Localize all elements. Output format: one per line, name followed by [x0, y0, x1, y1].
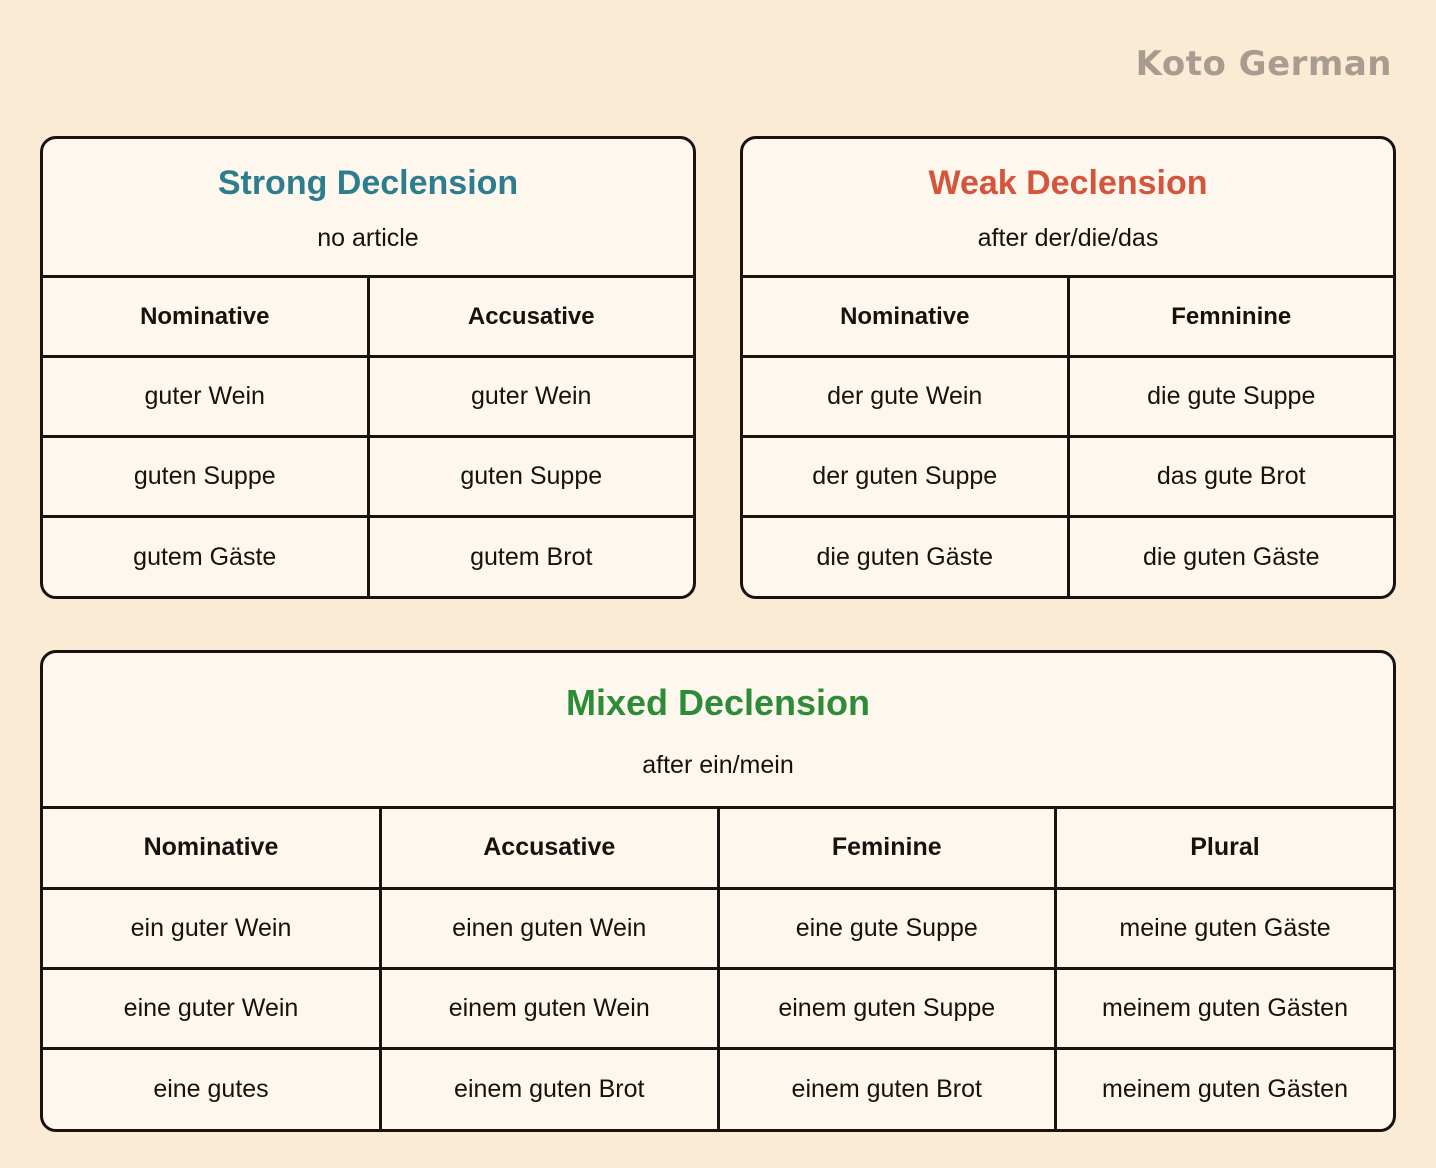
- card-title-weak: Weak Declension: [759, 165, 1377, 202]
- column-header-accusative: Accusative: [368, 278, 693, 356]
- table-cell: einem guten Suppe: [718, 969, 1056, 1049]
- table-cell: guter Wein: [43, 356, 368, 436]
- card-header-weak: Weak Declension after der/die/das: [743, 139, 1393, 278]
- table-cell: der guten Suppe: [743, 436, 1068, 516]
- card-strong-declension: Strong Declension no article Nominative …: [40, 136, 696, 599]
- table-cell: das gute Brot: [1068, 436, 1393, 516]
- table-row: ein guter Wein einen guten Wein eine gut…: [43, 889, 1393, 969]
- table-cell: die guten Gäste: [1068, 516, 1393, 596]
- table-cell: guter Wein: [368, 356, 693, 436]
- table-cell: die gute Suppe: [1068, 356, 1393, 436]
- table-cell: guten Suppe: [368, 436, 693, 516]
- table-row: eine gutes einem guten Brot einem guten …: [43, 1049, 1393, 1129]
- table-cell: guten Suppe: [43, 436, 368, 516]
- brand-logo: Koto German: [1136, 44, 1392, 84]
- column-header-accusative: Accusative: [381, 809, 719, 889]
- table-cell: meinem guten Gästen: [1056, 969, 1394, 1049]
- table-header-row: Nominative Accusative Feminine Plural: [43, 809, 1393, 889]
- table-header-row: Nominative Femninine: [743, 278, 1393, 356]
- table-row: der gute Wein die gute Suppe: [743, 356, 1393, 436]
- table-row: eine guter Wein einem guten Wein einem g…: [43, 969, 1393, 1049]
- table-row: guten Suppe guten Suppe: [43, 436, 693, 516]
- table-cell: eine guter Wein: [43, 969, 381, 1049]
- card-title-strong: Strong Declension: [59, 165, 677, 202]
- table-row: der guten Suppe das gute Brot: [743, 436, 1393, 516]
- table-cell: einem guten Brot: [718, 1049, 1056, 1129]
- table-cell: eine gutes: [43, 1049, 381, 1129]
- column-header-nominative: Nominative: [743, 278, 1068, 356]
- table-cell: meinem guten Gästen: [1056, 1049, 1394, 1129]
- table-weak-declension: Nominative Femninine der gute Wein die g…: [743, 278, 1393, 596]
- table-strong-declension: Nominative Accusative guter Wein guter W…: [43, 278, 693, 596]
- table-cell: meine guten Gäste: [1056, 889, 1394, 969]
- card-header-mixed: Mixed Declension after ein/mein: [43, 653, 1393, 809]
- table-cell: einem guten Brot: [381, 1049, 719, 1129]
- table-row: gutem Gäste gutem Brot: [43, 516, 693, 596]
- table-cell: die guten Gäste: [743, 516, 1068, 596]
- table-cell: gutem Brot: [368, 516, 693, 596]
- top-cards-row: Strong Declension no article Nominative …: [40, 136, 1396, 599]
- table-cell: ein guter Wein: [43, 889, 381, 969]
- card-weak-declension: Weak Declension after der/die/das Nomina…: [740, 136, 1396, 599]
- column-header-plural: Plural: [1056, 809, 1394, 889]
- table-cell: einen guten Wein: [381, 889, 719, 969]
- table-cell: gutem Gäste: [43, 516, 368, 596]
- card-subtitle-weak: after der/die/das: [759, 224, 1377, 253]
- card-subtitle-strong: no article: [59, 224, 677, 253]
- table-mixed-declension: Nominative Accusative Feminine Plural ei…: [43, 809, 1393, 1129]
- column-header-feminine: Femninine: [1068, 278, 1393, 356]
- table-cell: einem guten Wein: [381, 969, 719, 1049]
- column-header-nominative: Nominative: [43, 809, 381, 889]
- infographic-page: Koto German Strong Declension no article…: [0, 0, 1436, 1168]
- table-cell: der gute Wein: [743, 356, 1068, 436]
- card-subtitle-mixed: after ein/mein: [59, 751, 1377, 780]
- card-header-strong: Strong Declension no article: [43, 139, 693, 278]
- column-header-feminine: Feminine: [718, 809, 1056, 889]
- card-mixed-declension: Mixed Declension after ein/mein Nominati…: [40, 650, 1396, 1132]
- card-title-mixed: Mixed Declension: [59, 683, 1377, 723]
- column-header-nominative: Nominative: [43, 278, 368, 356]
- table-cell: eine gute Suppe: [718, 889, 1056, 969]
- table-header-row: Nominative Accusative: [43, 278, 693, 356]
- table-row: guter Wein guter Wein: [43, 356, 693, 436]
- table-row: die guten Gäste die guten Gäste: [743, 516, 1393, 596]
